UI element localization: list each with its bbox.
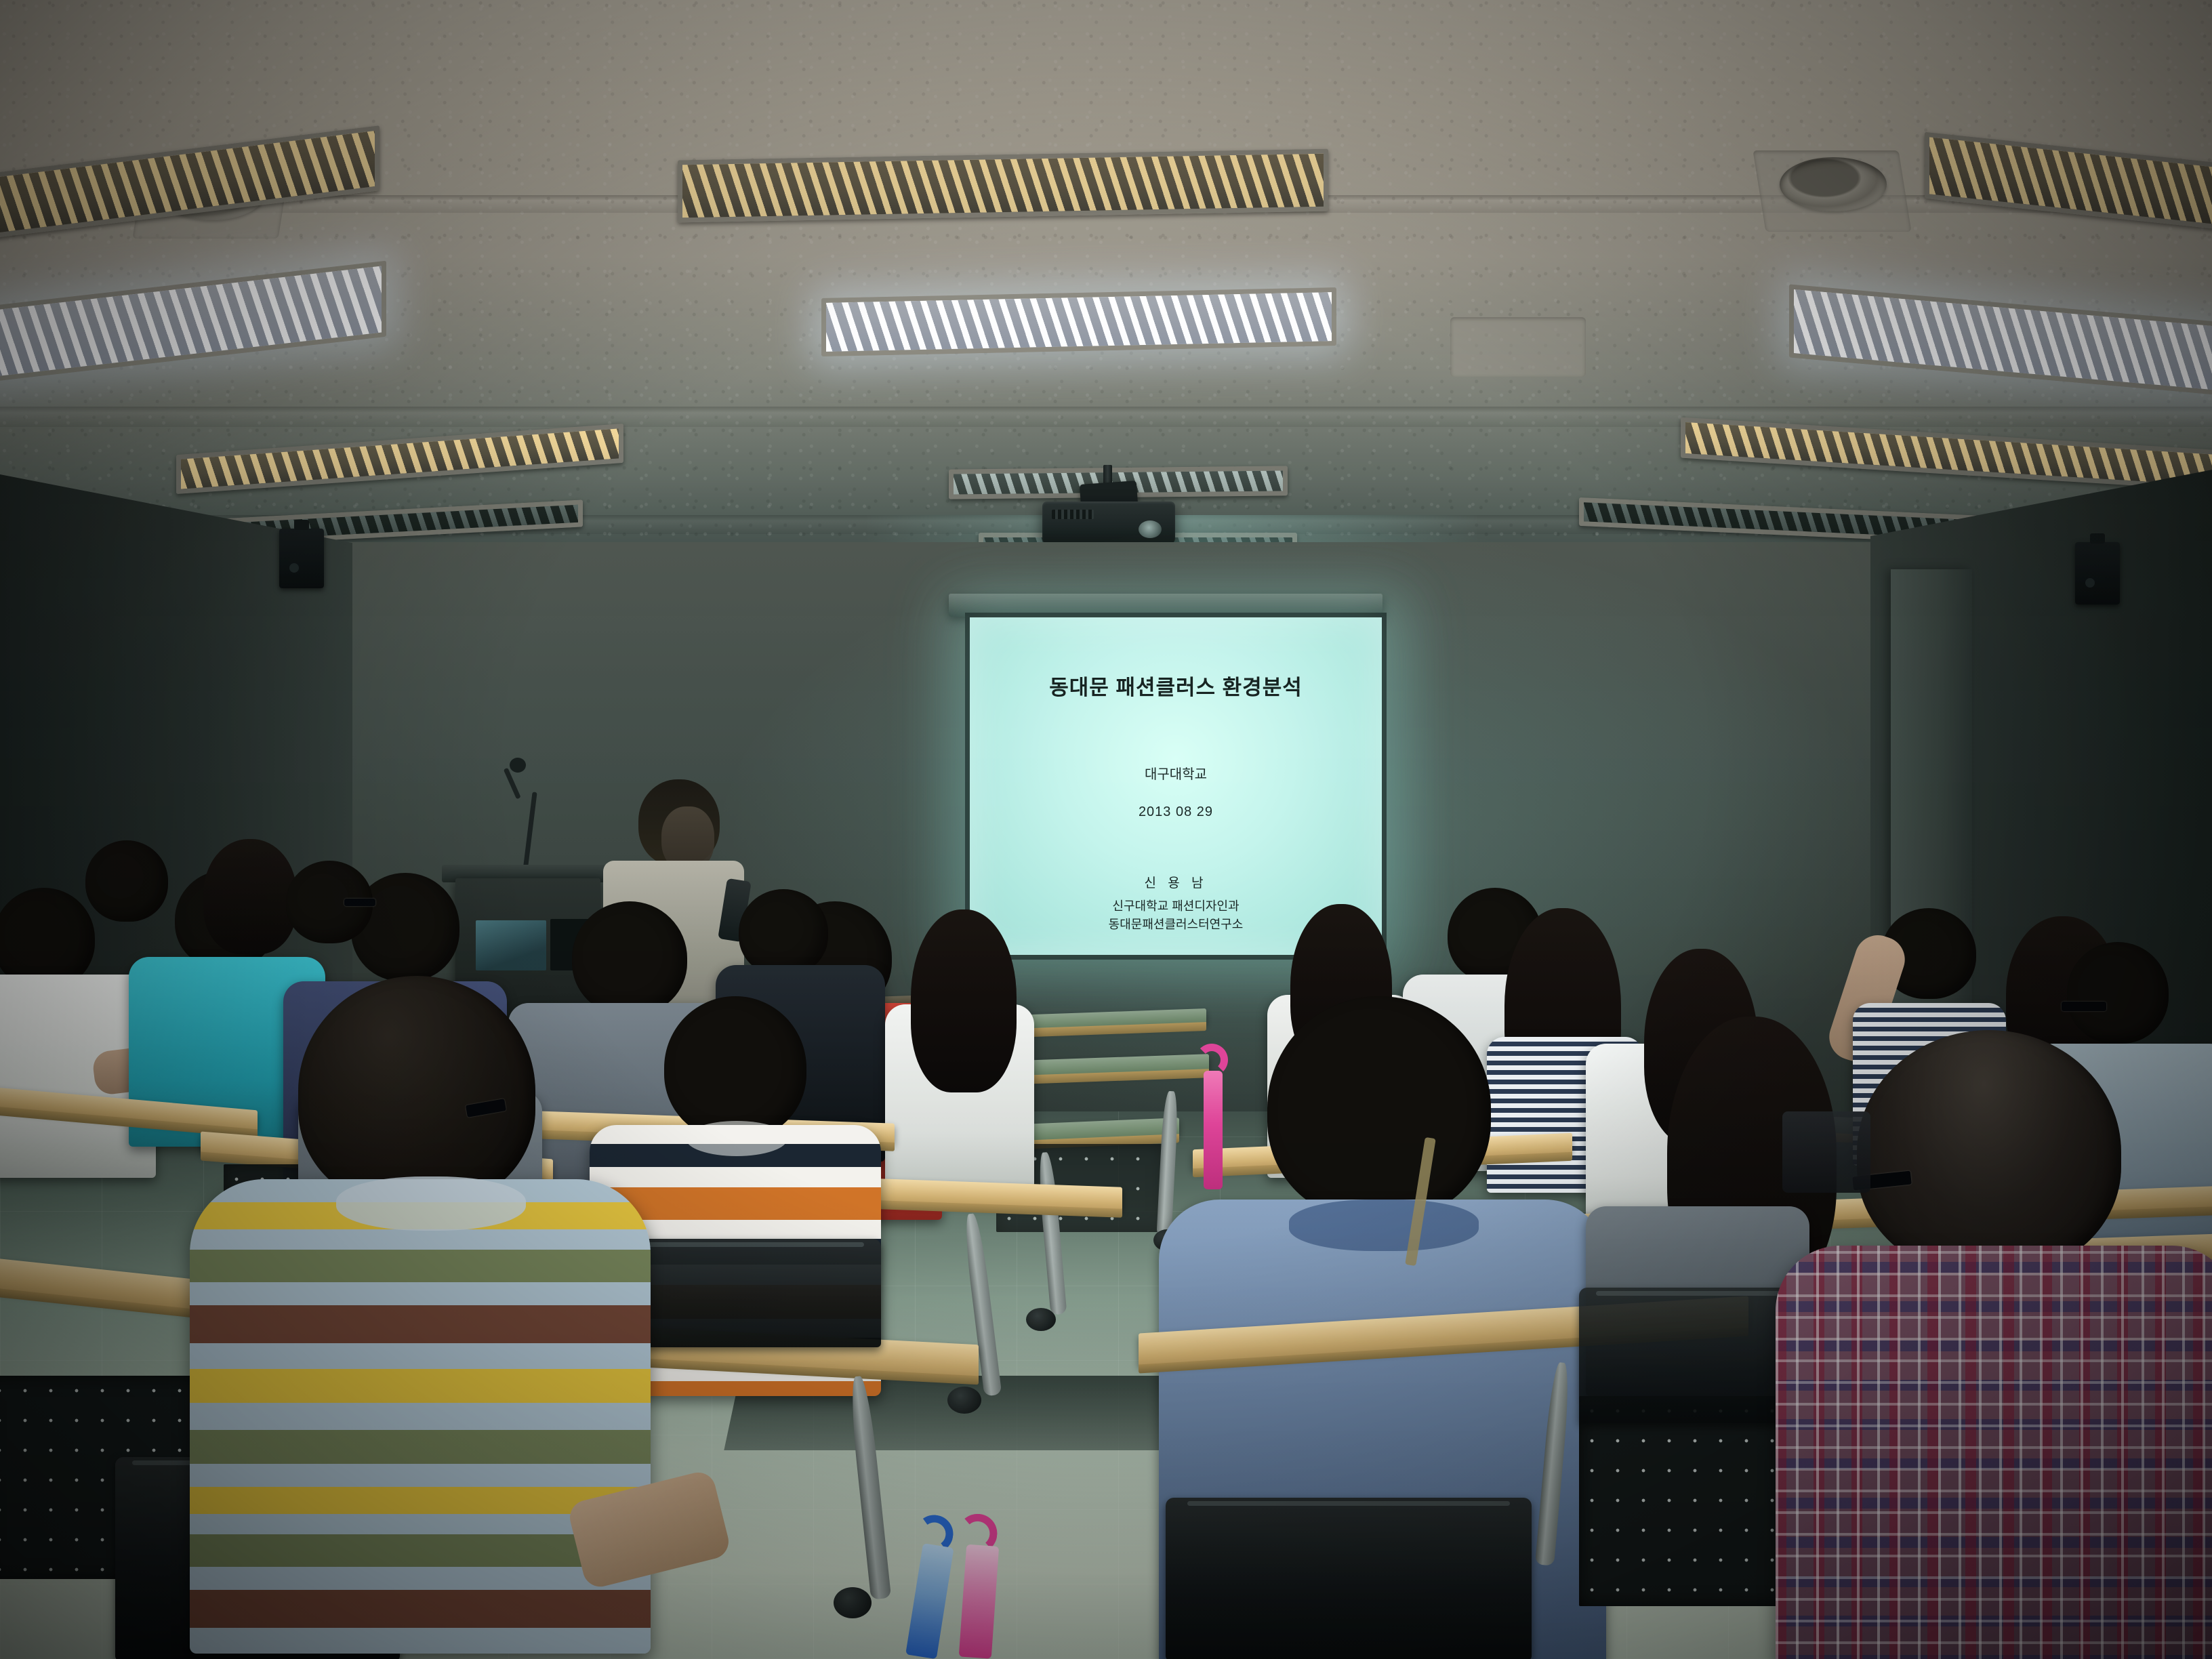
umbrella-canopy <box>1204 1071 1223 1189</box>
audience-member-back-left-c <box>279 861 388 983</box>
presentation-slide: 동대문 패션클러스 환경분석 대구대학교 2013 08 29 신 용 남 신구… <box>970 617 1382 955</box>
wall-speaker-right-icon <box>2075 542 2120 605</box>
audience-head <box>85 840 168 922</box>
projector-vent <box>1052 510 1094 519</box>
audience-head <box>1857 1030 2121 1274</box>
slide-title: 동대문 패션클러스 환경분석 <box>1049 670 1302 701</box>
audience-torso <box>1776 1246 2212 1659</box>
slide-affiliation-2: 동대문패션클러스터연구소 <box>1109 916 1244 934</box>
audience-head <box>739 889 828 976</box>
slide-presenter-name: 신 용 남 <box>1145 873 1208 891</box>
lecture-hall-photo: 동대문 패션클러스 환경분석 대구대학교 2013 08 29 신 용 남 신구… <box>0 0 2212 1659</box>
ceiling-light-lit-center <box>821 287 1336 356</box>
desk-caster-front-1 <box>834 1587 872 1618</box>
desk-caster-aisle-2 <box>1026 1308 1056 1331</box>
audience-member-plaid-shirt <box>1816 1030 2212 1659</box>
diffuser-plate-center <box>1450 317 1586 377</box>
speaker-bracket-right <box>2090 533 2105 544</box>
speaker-bracket-left <box>294 520 309 530</box>
audience-head <box>298 976 535 1206</box>
audience-torso <box>190 1179 651 1654</box>
umbrella-canopy-blue <box>905 1543 954 1659</box>
audience-member-striped-polo <box>203 976 691 1659</box>
bag-under-desk <box>1782 1111 1870 1193</box>
polo-collar <box>1289 1200 1479 1251</box>
audience-member-white-blouse <box>869 905 1072 1190</box>
gooseneck-mic-head-icon <box>510 758 526 773</box>
umbrella-canopy-pink <box>959 1544 999 1659</box>
desk-caster-aisle-3 <box>947 1387 981 1414</box>
slide-affiliation-1: 신구대학교 패션디자인과 <box>1112 897 1239 916</box>
shirt-collar <box>686 1121 787 1156</box>
slide-organization: 대구대학교 <box>1145 763 1207 783</box>
audience-hair-long <box>911 909 1017 1092</box>
chair-highlight <box>1187 1501 1509 1506</box>
eyeglasses-icon <box>344 899 375 906</box>
projection-screen: 동대문 패션클러스 환경분석 대구대학교 2013 08 29 신 용 남 신구… <box>970 617 1382 955</box>
ceiling-light-warm-topcenter <box>678 149 1328 223</box>
umbrella-pink-floor <box>948 1513 1046 1659</box>
audience-head <box>2067 942 2169 1044</box>
eyeglasses-icon <box>2062 1002 2106 1011</box>
wall-speaker-left-icon <box>279 529 324 588</box>
slide-date: 2013 08 29 <box>1139 804 1213 820</box>
speaker-cone-right <box>2085 578 2095 588</box>
audience-member-back-left-a <box>81 840 183 962</box>
projector-lens-icon <box>1139 520 1162 538</box>
polo-collar <box>336 1176 526 1231</box>
speaker-cone-left <box>289 563 299 573</box>
chair-front-right[interactable] <box>1166 1498 1532 1659</box>
ceiling-soffit-2 <box>0 407 2212 427</box>
audience-head <box>1267 996 1491 1220</box>
round-diffuser-right-icon <box>1780 157 1887 211</box>
umbrella-pink-hanging <box>1191 1044 1239 1200</box>
